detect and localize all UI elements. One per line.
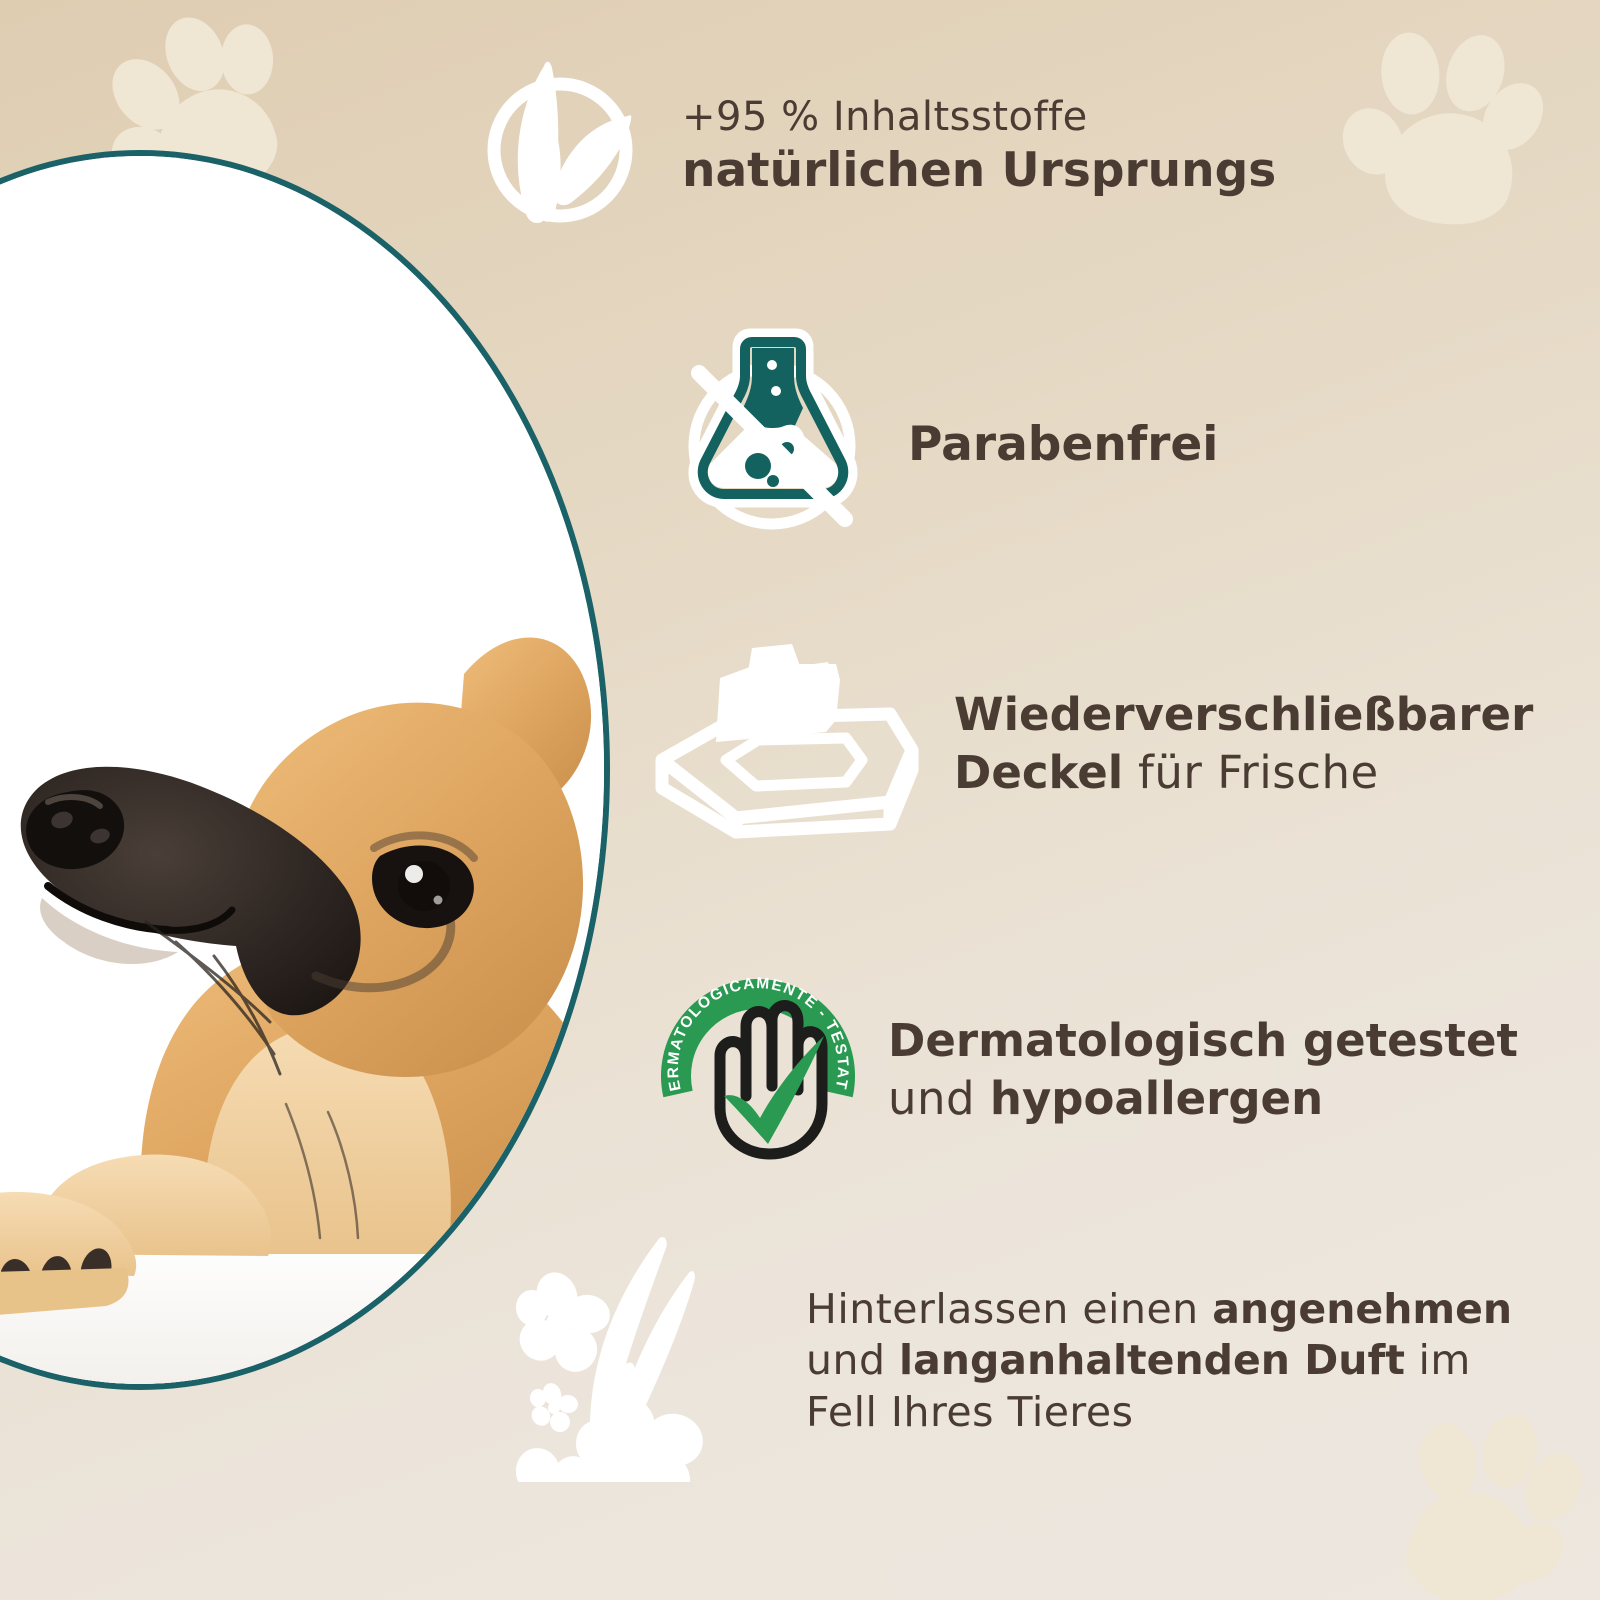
feature-resealable-lid: Wiederverschließbarer Deckel für Frische (640, 642, 1533, 846)
feature-scent-line2-bold: langanhaltenden Duft (899, 1336, 1405, 1384)
feature-lid-text: Wiederverschließbarer Deckel für Frische (954, 689, 1533, 798)
wipes-pack-icon (640, 642, 930, 846)
feature-natural-text: +95 % Inhaltsstoffe natürlichen Ursprung… (682, 94, 1276, 199)
feature-natural-line2: natürlichen Ursprungs (682, 144, 1276, 199)
infographic-canvas: +95 % Inhaltsstoffe natürlichen Ursprung… (0, 0, 1600, 1600)
feature-derma-line2: und hypoallergen (888, 1073, 1518, 1125)
feature-scent-line2-light2: im (1405, 1336, 1471, 1384)
feature-scent-line1-light: Hinterlassen einen (806, 1285, 1212, 1333)
feature-derma-text: Dermatologisch getestet und hypoallergen (888, 1015, 1518, 1125)
paw-print-top-right (1306, 0, 1579, 269)
feature-derma-line2-bold: hypoallergen (990, 1072, 1323, 1125)
no-flask-icon-svg (672, 318, 872, 568)
feature-dermatologically-tested: DERMATOLOGICAMENTE - TESTATO Dermatologi… (658, 968, 1518, 1172)
flower-scent-icon (512, 1232, 712, 1486)
feature-scent-line3: Fell Ihres Tieres (806, 1389, 1512, 1437)
feature-lid-line2: Deckel für Frische (954, 747, 1533, 799)
leaf-circle-icon-svg (478, 52, 638, 237)
pets-illustration (0, 156, 604, 1384)
flower-small (528, 1381, 580, 1436)
feature-natural-ingredients: +95 % Inhaltsstoffe natürlichen Ursprung… (478, 52, 1276, 241)
feature-paraben-text: Parabenfrei (908, 418, 1218, 473)
photo-content (0, 156, 604, 1384)
feature-derma-line1: Dermatologisch getestet (888, 1015, 1518, 1067)
feature-derma-line2-light: und (888, 1072, 990, 1125)
feature-lid-line2-light: für Frische (1123, 746, 1378, 799)
feature-pleasant-scent: Hinterlassen einen angenehmen und langan… (512, 1232, 1512, 1486)
feature-scent-line2: und langanhaltenden Duft im (806, 1337, 1512, 1385)
feature-scent-line1-bold: angenehmen (1212, 1285, 1512, 1333)
feature-lid-line2-bold: Deckel (954, 746, 1123, 799)
feature-paraben-free: Parabenfrei (672, 318, 1218, 572)
feature-scent-line1: Hinterlassen einen angenehmen (806, 1286, 1512, 1334)
feature-natural-line1: +95 % Inhaltsstoffe (682, 94, 1276, 140)
no-flask-icon (672, 318, 872, 572)
leaf-circle-icon (478, 52, 638, 241)
derma-badge-svg: DERMATOLOGICAMENTE - TESTATO (658, 968, 858, 1168)
flower-medium (512, 1267, 613, 1379)
feature-lid-line1: Wiederverschließbarer (954, 689, 1533, 741)
dermatologically-tested-badge-icon: DERMATOLOGICAMENTE - TESTATO (658, 968, 858, 1172)
feature-scent-text: Hinterlassen einen angenehmen und langan… (806, 1282, 1512, 1437)
flower-scent-icon-svg (512, 1232, 712, 1482)
wipes-pack-icon-svg (640, 642, 930, 842)
kitten-and-puppy-photo (0, 150, 610, 1390)
feature-scent-line2-light: und (806, 1336, 899, 1384)
